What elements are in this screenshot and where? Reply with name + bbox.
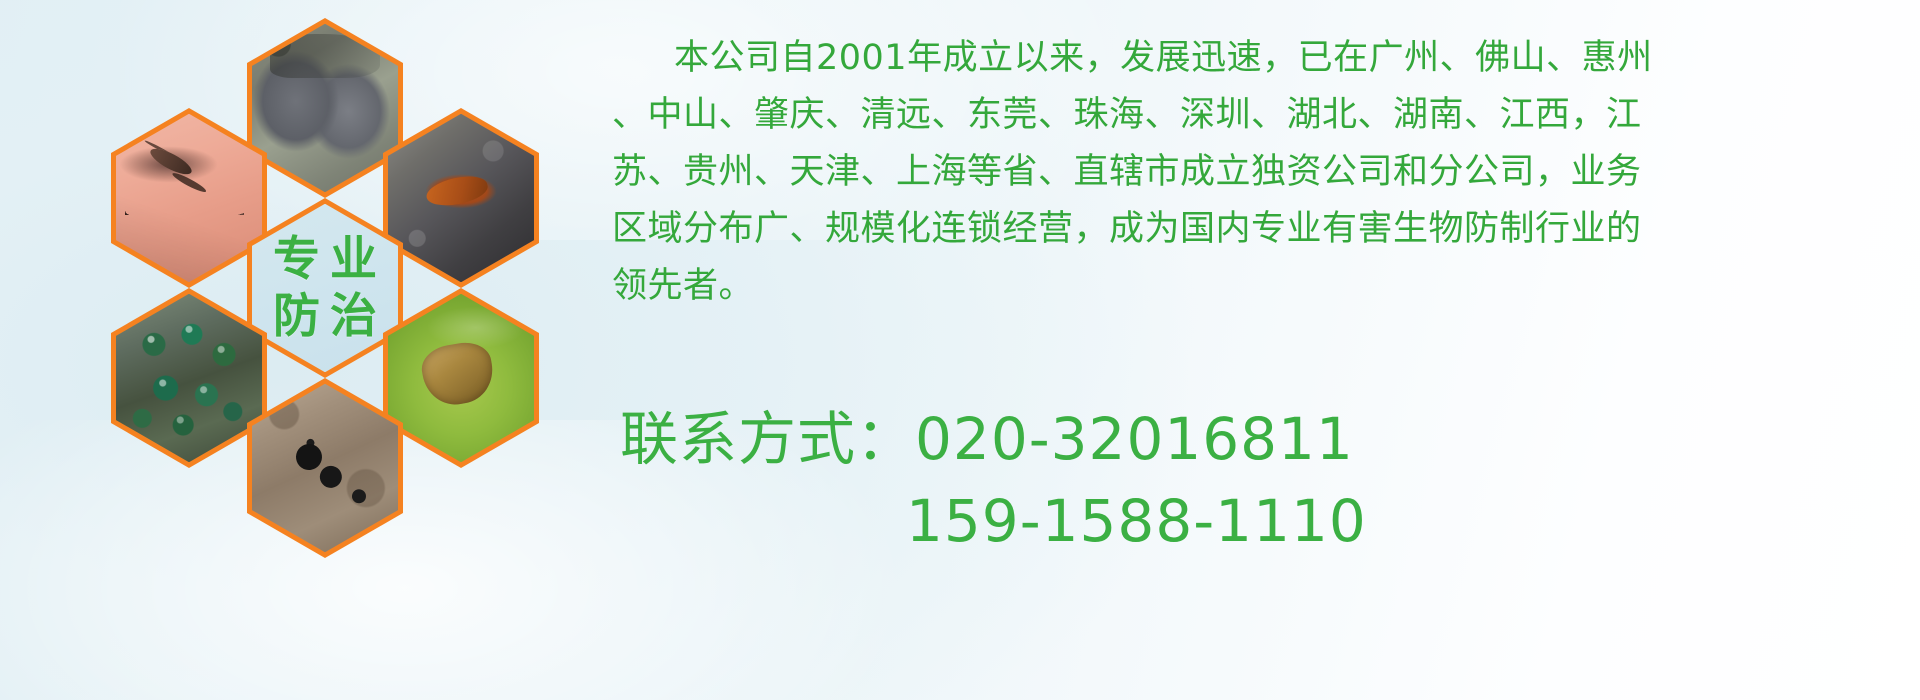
hex-cell-mosquito xyxy=(111,108,267,288)
hex-cell-cockroach xyxy=(383,108,539,288)
ant-photo xyxy=(252,384,398,552)
mosquito-photo xyxy=(116,114,262,282)
hex-cell-badge: 专业 防治 xyxy=(247,198,403,378)
pest-control-banner: 专业 防治 本公司自2001年成立以来，发展迅速，已在广州、佛山、惠州 、中山、… xyxy=(0,0,1920,700)
hex-cell-flies xyxy=(111,288,267,468)
cockroach-photo xyxy=(388,114,534,282)
contact-line-primary: 联系方式：020-32016811 xyxy=(620,398,1910,480)
contact-line-secondary: 159-1588-1110 xyxy=(620,480,1910,562)
hex-cell-ant xyxy=(247,378,403,558)
description-line: 、中山、肇庆、清远、东莞、珠海、深圳、湖北、湖南、江西，江 xyxy=(612,87,1907,144)
description-line: 本公司自2001年成立以来，发展迅速，已在广州、佛山、惠州 xyxy=(612,30,1907,87)
flies-photo xyxy=(116,294,262,462)
description-line: 苏、贵州、天津、上海等省、直辖市成立独资公司和分公司，业务 xyxy=(612,144,1907,201)
contact-block: 联系方式：020-32016811 159-1588-1110 xyxy=(620,398,1910,562)
honeycomb-photo-cluster: 专业 防治 xyxy=(95,8,595,568)
stinkbug-photo xyxy=(388,294,534,462)
phone-number-secondary[interactable]: 159-1588-1110 xyxy=(906,487,1367,555)
company-description: 本公司自2001年成立以来，发展迅速，已在广州、佛山、惠州 、中山、肇庆、清远、… xyxy=(612,30,1907,315)
description-line: 区域分布广、规模化连锁经营，成为国内专业有害生物防制行业的 xyxy=(612,201,1907,258)
badge-line-1: 专业 xyxy=(263,236,387,283)
badge-line-2: 防治 xyxy=(263,293,387,340)
rats-photo xyxy=(252,24,398,192)
contact-label: 联系方式： xyxy=(620,405,915,473)
description-line: 领先者。 xyxy=(612,258,1907,315)
badge-label: 专业 防治 xyxy=(252,204,398,372)
phone-number-primary[interactable]: 020-32016811 xyxy=(915,405,1354,473)
hex-cell-stinkbug xyxy=(383,288,539,468)
hex-cell-rats xyxy=(247,18,403,198)
